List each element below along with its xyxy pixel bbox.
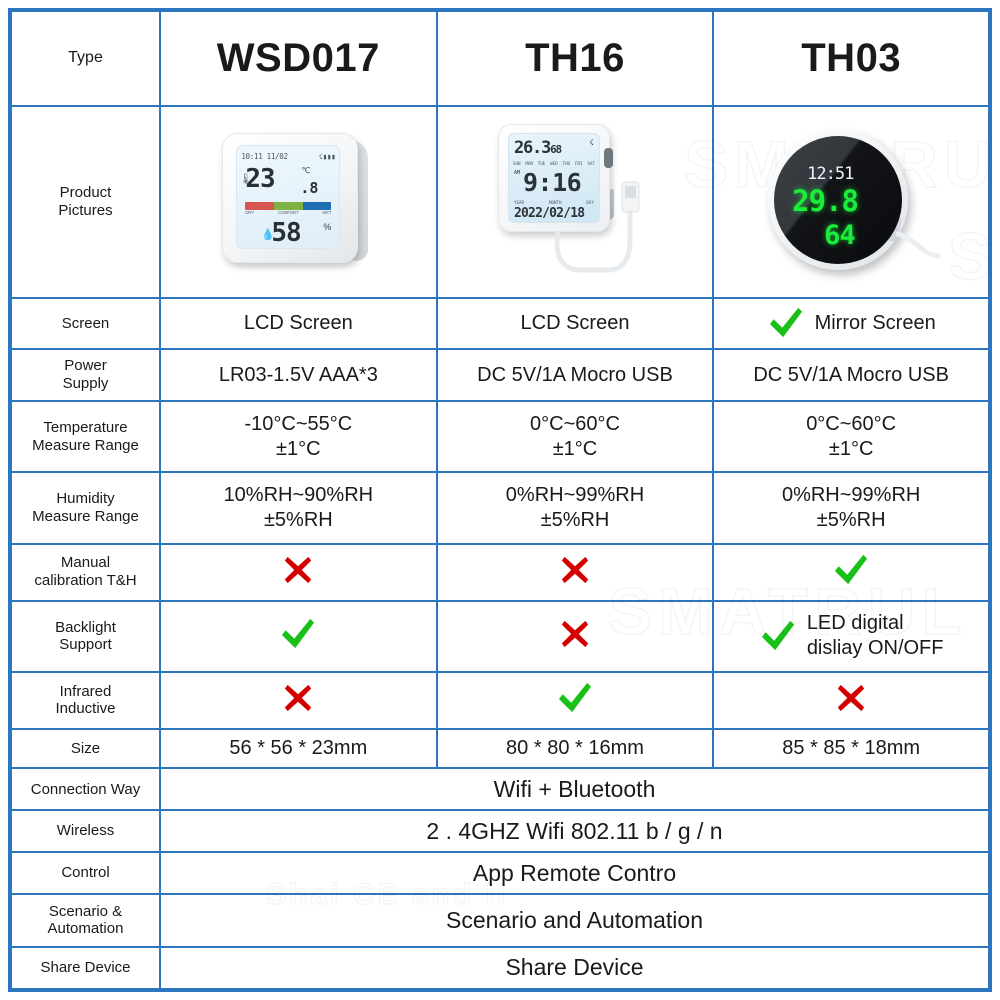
power-th03: DC 5V/1A Mocro USB [713, 349, 990, 402]
row-label-infrared-inductive: Infrared Inductive [10, 672, 160, 729]
label-line-2: Measure Range [16, 437, 155, 455]
row-connection-way: Connection Way Wifi + Bluetooth [10, 768, 990, 810]
product-comparison-table: Type WSD017 TH16 TH03 Product Pictures 1… [8, 8, 992, 992]
check-icon [279, 617, 317, 651]
screen-th03: Mirror Screen [713, 298, 990, 349]
label-line-2: Inductive [16, 700, 155, 718]
header-wsd017: WSD017 [160, 10, 437, 106]
row-control: Control App Remote Contro [10, 852, 990, 894]
humidity-th16: 0%RH~99%RH ±5%RH [437, 472, 714, 543]
row-label-power-supply: Power Supply [10, 349, 160, 402]
cross-icon [559, 554, 591, 586]
row-label-connection-way: Connection Way [10, 768, 160, 810]
row-label-product-pictures: Product Pictures [10, 106, 160, 298]
humidity-range: 0%RH~99%RH [718, 483, 984, 508]
row-backlight-support: Backlight Support LED dig [10, 601, 990, 672]
product-image-wsd017-cell: 10:11 11/02 ☇▮▮▮ 🌡 23 .8 ℃ DRY [160, 106, 437, 298]
humidity-th03: 0%RH~99%RH ±5%RH [713, 472, 990, 543]
row-label-scenario-automation: Scenario & Automation [10, 894, 160, 947]
comfort-bar [245, 202, 331, 210]
bar-label-dry: DRY [245, 210, 254, 215]
row-humidity-range: Humidity Measure Range 10%RH~90%RH ±5%RH… [10, 472, 990, 543]
temperature-value: 23 [245, 164, 274, 194]
row-temperature-range: Temperature Measure Range -10°C~55°C ±1°… [10, 401, 990, 472]
label-line-1: Backlight [16, 619, 155, 637]
row-label-screen: Screen [10, 298, 160, 349]
humidity-wsd017: 10%RH~90%RH ±5%RH [160, 472, 437, 543]
label-line-1: Temperature [16, 419, 155, 437]
wifi-icon: ☇▮▮▮ [318, 152, 335, 161]
row-label-share-device: Share Device [10, 947, 160, 990]
label-line-1: Humidity [16, 490, 155, 508]
temperature-range: 0°C~60°C [718, 412, 984, 437]
row-label-temperature-range: Temperature Measure Range [10, 401, 160, 472]
row-wireless: Wireless 2 . 4GHZ Wifi 802.11 b / g / n [10, 810, 990, 852]
label-line-1: Manual [16, 554, 155, 572]
row-label-manual-calibration: Manual calibration T&H [10, 544, 160, 601]
table-header-row: Type WSD017 TH16 TH03 [10, 10, 990, 106]
product-image-th03-cell: 12:51 29.8 64 [713, 106, 990, 298]
check-icon [832, 553, 870, 587]
screen-wsd017: LCD Screen [160, 298, 437, 349]
row-infrared-inductive: Infrared Inductive [10, 672, 990, 729]
label-line-2: Supply [16, 375, 155, 393]
check-icon [767, 306, 805, 340]
row-scenario-automation: Scenario & Automation Scenario and Autom… [10, 894, 990, 947]
humidity-value: 58 [271, 218, 300, 248]
temperature-th16: 0°C~60°C ±1°C [437, 401, 714, 472]
row-label-wireless: Wireless [10, 810, 160, 852]
label-line-1: Infrared [16, 683, 155, 701]
backlight-th03-text: LED digital disliay ON/OFF [807, 611, 944, 661]
humidity-accuracy: ±5%RH [165, 508, 432, 533]
row-screen: Screen LCD Screen LCD Screen Mirror Scre… [10, 298, 990, 349]
row-label-size: Size [10, 729, 160, 768]
humidity-accuracy: ±5%RH [442, 508, 709, 533]
label-line-2: Measure Range [16, 508, 155, 526]
manual-calibration-th03 [713, 544, 990, 601]
control-value: App Remote Contro [160, 852, 990, 894]
product-image-th16: 26.368 ☇ SUN MON TUE WED THU FRI SAT [442, 109, 709, 295]
temperature-accuracy: ±1°C [165, 437, 432, 462]
device-screen: 10:11 11/02 ☇▮▮▮ 🌡 23 .8 ℃ DRY [236, 145, 340, 249]
usb-cable [480, 122, 670, 282]
comparison-sheet: SMATRUL SMATRUL SMATRUL Shai CE and II T… [8, 8, 992, 992]
header-th16: TH16 [437, 10, 714, 106]
size-wsd017: 56 * 56 * 23mm [160, 729, 437, 768]
row-size: Size 56 * 56 * 23mm 80 * 80 * 16mm 85 * … [10, 729, 990, 768]
product-image-wsd017: 10:11 11/02 ☇▮▮▮ 🌡 23 .8 ℃ DRY [165, 109, 432, 295]
cross-icon [559, 618, 591, 650]
screen-th03-text: Mirror Screen [815, 311, 936, 336]
size-th16: 80 * 80 * 16mm [437, 729, 714, 768]
humidity-unit: % [323, 222, 331, 232]
temperature-wsd017: -10°C~55°C ±1°C [160, 401, 437, 472]
header-type-label: Type [10, 10, 160, 106]
temperature-accuracy: ±1°C [442, 437, 709, 462]
check-icon [759, 619, 797, 653]
comfort-bar-labels: DRY COMFORT WET [245, 210, 331, 215]
label-line-2: Support [16, 636, 155, 654]
row-label-backlight-support: Backlight Support [10, 601, 160, 672]
header-th03: TH03 [713, 10, 990, 106]
backlight-th16 [437, 601, 714, 672]
temperature-decimal: .8 [300, 179, 318, 197]
infrared-th16 [437, 672, 714, 729]
temperature-range: 0°C~60°C [442, 412, 709, 437]
cross-icon [282, 554, 314, 586]
product-pictures-row: Product Pictures 10:11 11/02 ☇▮▮▮ 🌡 [10, 106, 990, 298]
label-line-1: Product [16, 184, 155, 202]
power-cable [762, 122, 940, 282]
row-label-humidity-range: Humidity Measure Range [10, 472, 160, 543]
label-line-2: calibration T&H [16, 572, 155, 590]
row-label-control: Control [10, 852, 160, 894]
temperature-unit: ℃ [301, 166, 310, 175]
humidity-accuracy: ±5%RH [718, 508, 984, 533]
humidity-range: 10%RH~90%RH [165, 483, 432, 508]
size-th03: 85 * 85 * 18mm [713, 729, 990, 768]
humidity-range: 0%RH~99%RH [442, 483, 709, 508]
status-bar: 10:11 11/02 ☇▮▮▮ [241, 150, 335, 162]
power-th16: DC 5V/1A Mocro USB [437, 349, 714, 402]
temperature-range: -10°C~55°C [165, 412, 432, 437]
backlight-wsd017 [160, 601, 437, 672]
power-wsd017: LR03-1.5V AAA*3 [160, 349, 437, 402]
product-image-th16-cell: 26.368 ☇ SUN MON TUE WED THU FRI SAT [437, 106, 714, 298]
scenario-automation-value: Scenario and Automation [160, 894, 990, 947]
connection-way-value: Wifi + Bluetooth [160, 768, 990, 810]
infrared-th03 [713, 672, 990, 729]
row-power-supply: Power Supply LR03-1.5V AAA*3 DC 5V/1A Mo… [10, 349, 990, 402]
label-line-1: Power [16, 357, 155, 375]
bar-label-comfort: COMFORT [278, 210, 299, 215]
backlight-th03: LED digital disliay ON/OFF [713, 601, 990, 672]
manual-calibration-th16 [437, 544, 714, 601]
check-icon [556, 681, 594, 715]
label-line-2: Automation [16, 920, 155, 938]
label-line-1: Scenario & [16, 903, 155, 921]
screen-th16: LCD Screen [437, 298, 714, 349]
cross-icon [835, 682, 867, 714]
temperature-th03: 0°C~60°C ±1°C [713, 401, 990, 472]
product-image-th03: 12:51 29.8 64 [718, 109, 984, 295]
bar-label-wet: WET [322, 210, 331, 215]
wireless-value: 2 . 4GHZ Wifi 802.11 b / g / n [160, 810, 990, 852]
cross-icon [282, 682, 314, 714]
infrared-wsd017 [160, 672, 437, 729]
backlight-th03-line-1: LED digital [807, 611, 944, 636]
backlight-th03-line-2: disliay ON/OFF [807, 636, 944, 661]
row-manual-calibration: Manual calibration T&H [10, 544, 990, 601]
manual-calibration-wsd017 [160, 544, 437, 601]
row-share-device: Share Device Share Device [10, 947, 990, 990]
temperature-accuracy: ±1°C [718, 437, 984, 462]
share-device-value: Share Device [160, 947, 990, 990]
label-line-2: Pictures [16, 202, 155, 220]
status-bar-text: 10:11 11/02 [241, 152, 287, 161]
